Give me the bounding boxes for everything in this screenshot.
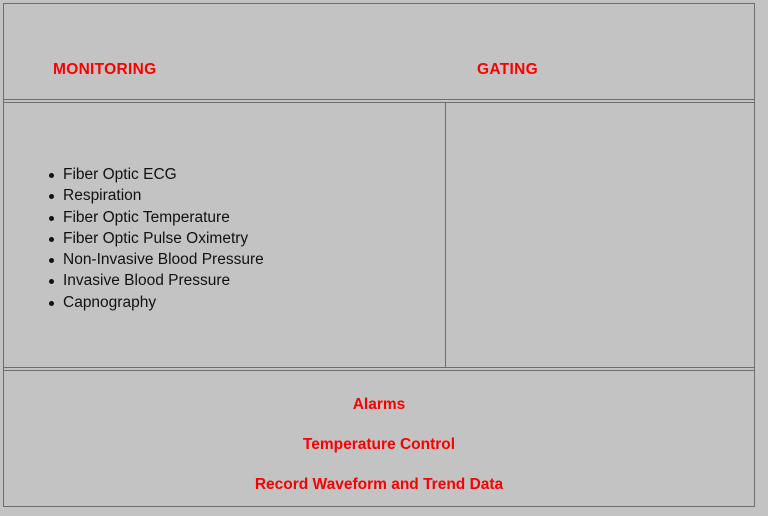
list-item-label: Fiber Optic Temperature xyxy=(63,209,230,226)
list-item: Fiber Optic ECG xyxy=(47,164,264,185)
list-item-label: Fiber Optic Pulse Oximetry xyxy=(63,230,248,247)
diagram-frame: MONITORING GATING Fiber Optic ECG Respir… xyxy=(3,3,755,507)
gating-header-cell: GATING xyxy=(477,61,538,79)
list-item-label: Capnography xyxy=(63,294,156,311)
monitoring-panel: Fiber Optic ECG Respiration Fiber Optic … xyxy=(4,103,445,367)
gating-title: GATING xyxy=(477,61,538,79)
list-item: Capnography xyxy=(47,292,264,313)
list-item-label: Respiration xyxy=(63,187,141,204)
list-item-label: Invasive Blood Pressure xyxy=(63,272,230,289)
list-item: Non-Invasive Blood Pressure xyxy=(47,249,264,270)
header-row: MONITORING GATING xyxy=(4,4,754,100)
diagram-page: MONITORING GATING Fiber Optic ECG Respir… xyxy=(0,0,768,516)
monitoring-title: MONITORING xyxy=(53,61,156,79)
list-item-label: Fiber Optic ECG xyxy=(63,166,177,183)
bottom-item-temperature-control: Temperature Control xyxy=(4,436,754,454)
bottom-item-alarms: Alarms xyxy=(4,396,754,414)
bottom-row: Alarms Temperature Control Record Wavefo… xyxy=(4,370,754,506)
list-item: Invasive Blood Pressure xyxy=(47,270,264,291)
list-item: Fiber Optic Temperature xyxy=(47,207,264,228)
list-item: Fiber Optic Pulse Oximetry xyxy=(47,228,264,249)
list-item-label: Non-Invasive Blood Pressure xyxy=(63,251,264,268)
list-item: Respiration xyxy=(47,185,264,206)
gating-panel: ECG Respiratory ECG & Respiratory Auxili… xyxy=(446,103,754,367)
monitoring-header-cell: MONITORING xyxy=(53,61,156,79)
middle-row: Fiber Optic ECG Respiration Fiber Optic … xyxy=(4,102,754,368)
bottom-item-record-waveform-and-trend-data: Record Waveform and Trend Data xyxy=(4,476,754,494)
monitoring-list: Fiber Optic ECG Respiration Fiber Optic … xyxy=(47,164,264,313)
